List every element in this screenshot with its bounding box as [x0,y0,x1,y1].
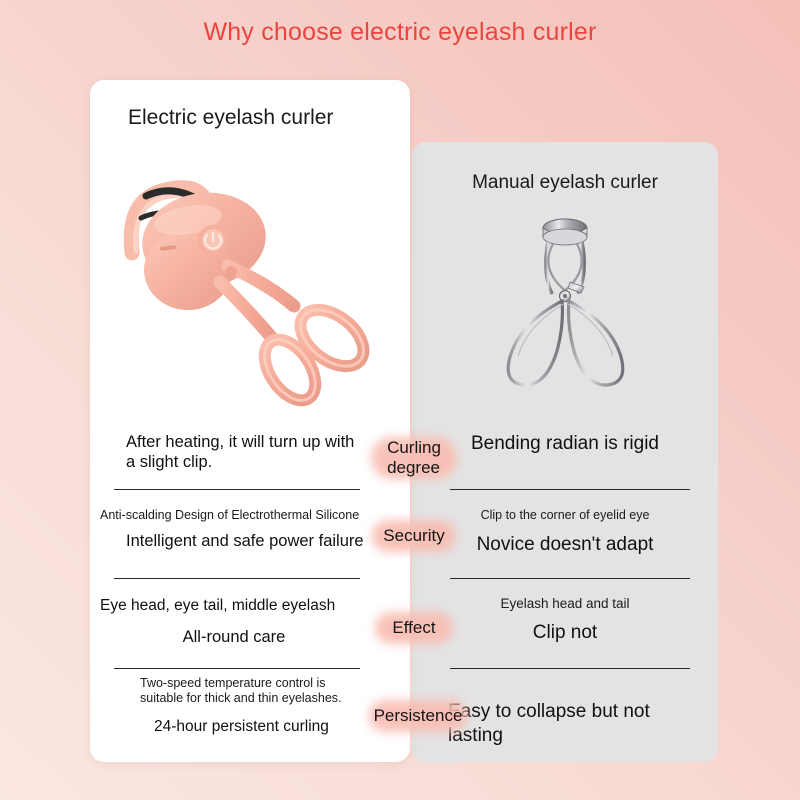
row-left-caption: Two-speed temperature control is suitabl… [140,676,358,707]
row-right-content: Eyelash head and tail Clip not [424,596,706,645]
row-left-caption: Anti-scalding Design of Electrothermal S… [100,508,368,523]
comparison-label-text: Curling degree [387,438,441,478]
electric-curler-title: Electric eyelash curler [128,106,333,130]
row-left-content: Anti-scalding Design of Electrothermal S… [100,508,368,552]
comparison-label-text: Persistence [374,706,463,726]
electric-curler-panel: Electric eyelash curler [90,80,410,762]
row-left-content: After heating, it will turn up with a sl… [100,432,368,473]
electric-eyelash-curler-image [100,158,400,418]
manual-eyelash-curler-image [412,204,718,404]
comparison-label-curling-degree[interactable]: Curling degree [368,432,460,484]
row-left-content: Eye head, eye tail, middle eyelash All-r… [100,596,368,648]
row-right-caption: Clip to the corner of eyelid eye [424,508,706,523]
row-right-content: Easy to collapse but not lasting [448,700,688,747]
manual-curler-title: Manual eyelash curler [412,172,718,194]
row-right-main: Bending radian is rigid [424,432,706,456]
comparison-label-text: Security [383,526,444,546]
row-right-main: Novice doesn't adapt [424,533,706,557]
page-title: Why choose electric eyelash curler [0,18,800,47]
comparison-label-effect[interactable]: Effect [368,610,460,646]
comparison-label-text: Effect [392,618,435,638]
row-right-caption: Eyelash head and tail [424,596,706,612]
comparison-label-security[interactable]: Security [368,518,460,554]
row-right-content: Clip to the corner of eyelid eye Novice … [424,508,706,557]
comparison-label-persistence[interactable]: Persistence [366,698,470,734]
row-left-main: 24-hour persistent curling [140,717,358,736]
row-right-main: Clip not [424,621,706,645]
row-right-content: Bending radian is rigid [424,432,706,456]
row-right-main: Easy to collapse but not lasting [448,700,688,747]
row-left-main: All-round care [100,627,368,647]
row-left-content: Two-speed temperature control is suitabl… [140,676,358,736]
row-left-main: After heating, it will turn up with a sl… [100,432,368,473]
row-left-main: Intelligent and safe power failure [100,531,368,551]
row-left-caption: Eye head, eye tail, middle eyelash [100,596,368,615]
